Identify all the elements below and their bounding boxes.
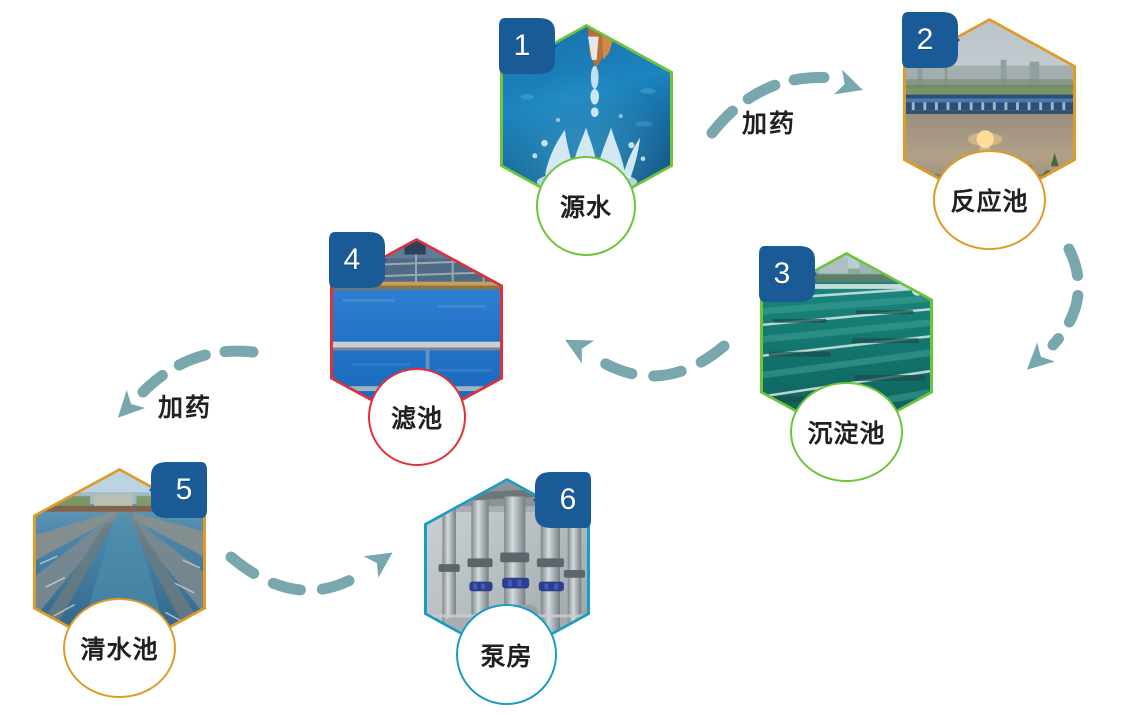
process-node-5[interactable]: 5 清水池 <box>33 468 206 656</box>
node-label-bubble-3: 沉淀池 <box>790 382 903 482</box>
step-badge-4: 4 <box>327 230 389 290</box>
node-label-2: 反应池 <box>950 182 1028 218</box>
node-label-5: 清水池 <box>80 630 158 666</box>
step-badge-1: 1 <box>497 16 559 76</box>
process-flow-diagram: 加药 加药 <box>0 0 1130 714</box>
arrow-label-dosing-1: 加药 <box>742 104 796 140</box>
node-label-bubble-4: 滤池 <box>368 368 466 466</box>
step-number-2: 2 <box>900 10 962 70</box>
step-number-5: 5 <box>147 460 209 520</box>
process-node-2[interactable]: 2 反应池 <box>903 18 1076 208</box>
step-badge-5: 5 <box>147 460 209 520</box>
step-number-4: 4 <box>327 230 389 290</box>
step-number-1: 1 <box>497 16 559 76</box>
node-label-bubble-6: 泵房 <box>456 604 557 705</box>
node-label-6: 泵房 <box>480 637 532 673</box>
node-label-bubble-2: 反应池 <box>933 150 1046 250</box>
process-node-1[interactable]: 1 源水 <box>500 24 673 214</box>
process-node-4[interactable]: 4 滤池 <box>330 238 503 426</box>
node-label-bubble-1: 源水 <box>536 156 636 256</box>
step-number-6: 6 <box>531 470 593 530</box>
arrow-2-to-3 <box>1018 249 1078 379</box>
node-label-3: 沉淀池 <box>807 414 885 450</box>
arrow-label-dosing-2: 加药 <box>158 388 212 424</box>
step-badge-3: 3 <box>757 244 819 304</box>
process-node-3[interactable]: 3 沉淀池 <box>760 252 933 440</box>
step-badge-2: 2 <box>900 10 962 70</box>
step-badge-6: 6 <box>531 470 593 530</box>
step-number-3: 3 <box>757 244 819 304</box>
node-label-4: 滤池 <box>391 399 443 435</box>
node-label-bubble-5: 清水池 <box>63 598 176 698</box>
node-label-1: 源水 <box>560 188 612 224</box>
process-node-6[interactable]: 6 泵房 <box>424 478 590 660</box>
arrow-5-to-6 <box>231 542 400 591</box>
arrow-3-to-4 <box>559 328 724 376</box>
